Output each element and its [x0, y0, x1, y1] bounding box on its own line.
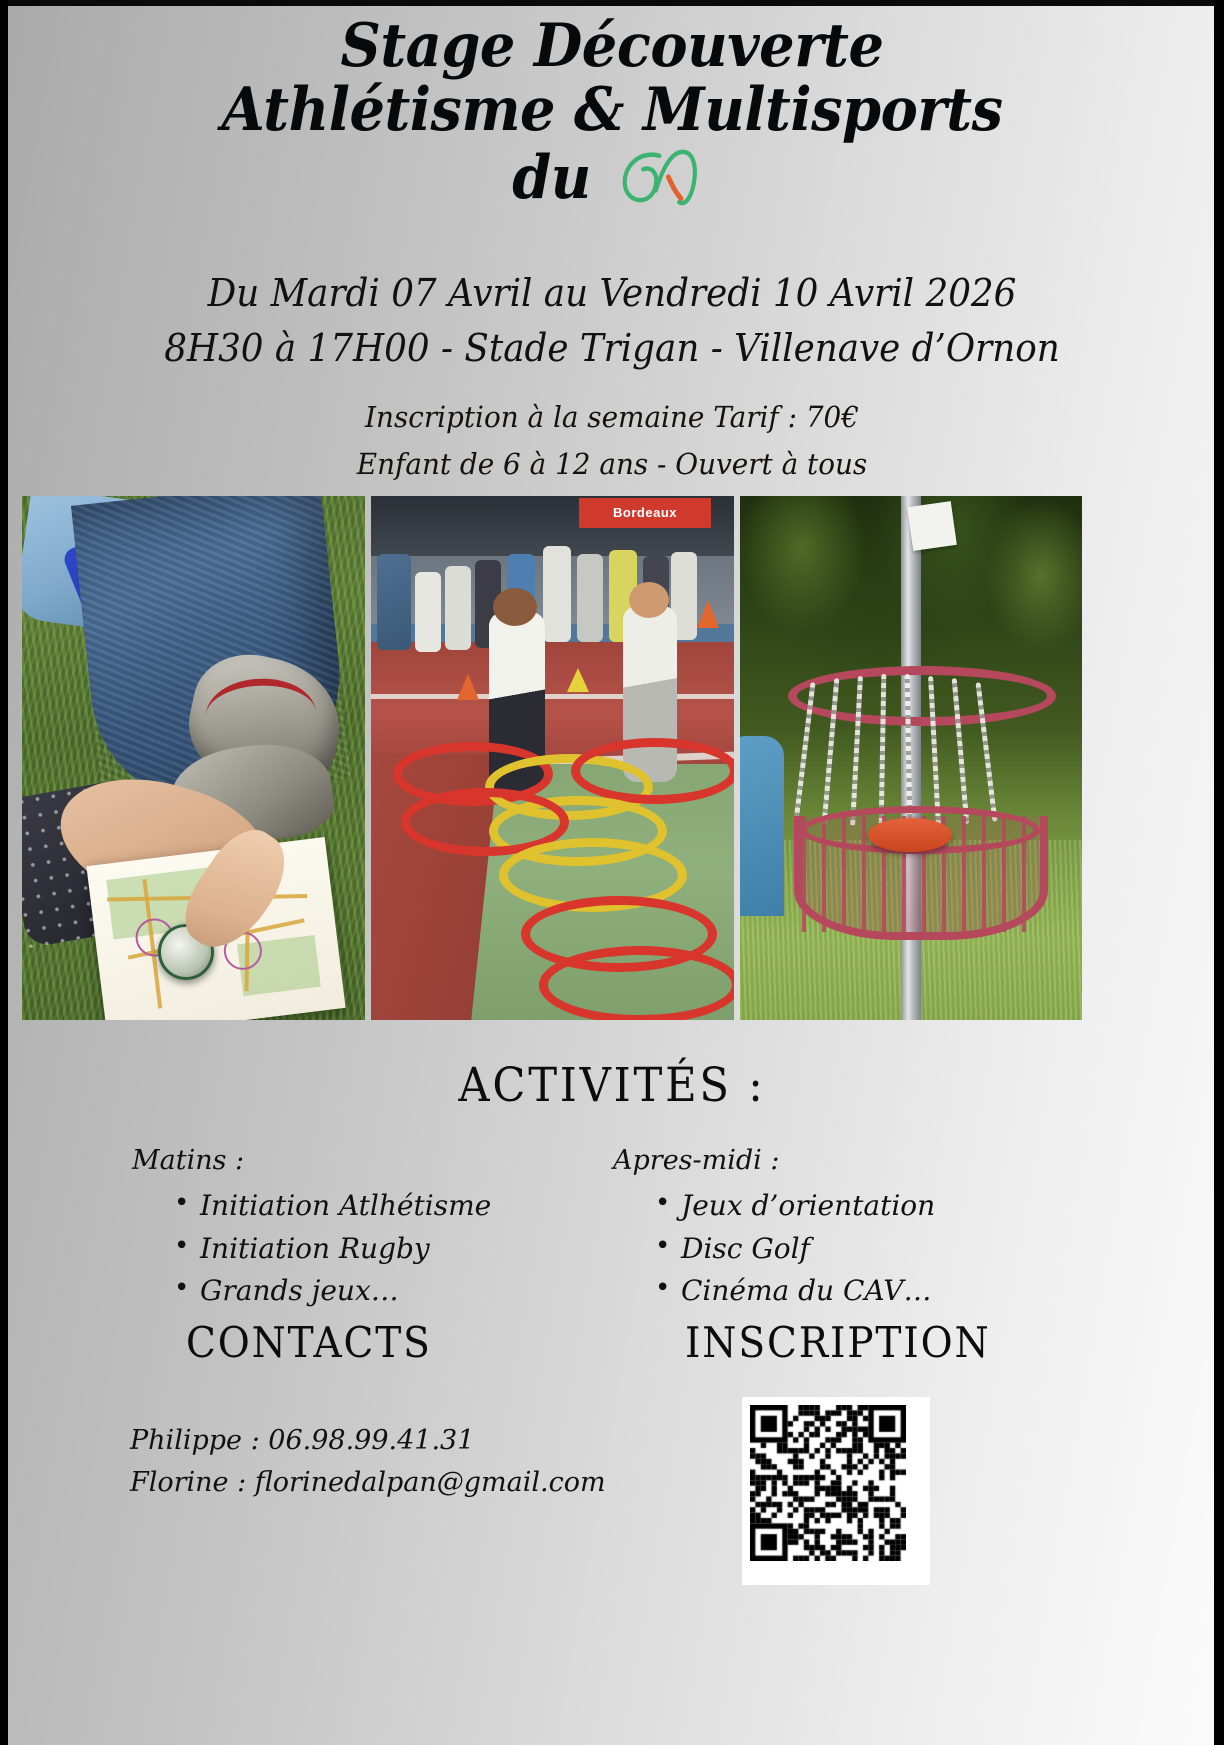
list-item: Cinéma du CAV…	[655, 1270, 1224, 1313]
training-cone	[567, 668, 589, 692]
runner-boy-head	[629, 582, 669, 618]
contacts-list: Philippe : 06.98.99.41.31 Florine : flor…	[130, 1420, 606, 1504]
cav-logo-icon	[604, 142, 712, 214]
disc	[868, 818, 952, 852]
poster-root: Stage Découverte Athlétisme & Multisport…	[0, 0, 1224, 1745]
person-child	[543, 546, 571, 642]
title-line-2: Athlétisme & Multisports	[43, 78, 1181, 142]
basket-top-rim	[788, 666, 1056, 726]
person-child	[445, 566, 471, 650]
border-right	[1214, 0, 1224, 1745]
photo-disc-golf-basket	[740, 496, 1082, 1020]
afternoon-label: Apres-midi :	[613, 1145, 1224, 1176]
event-info: Du Mardi 07 Avril au Vendredi 10 Avril 2…	[0, 266, 1224, 487]
hoop-red	[539, 946, 734, 1020]
activities-heading: ACTIVITÉS :	[49, 1058, 1175, 1113]
event-audience: Enfant de 6 à 12 ans - Ouvert à tous	[24, 441, 1199, 487]
venue-banner: Bordeaux	[579, 498, 711, 528]
contacts-heading: CONTACTS	[186, 1318, 432, 1367]
contact-email[interactable]: Florine : florinedalpan@gmail.com	[130, 1462, 606, 1504]
inscription-heading: INSCRIPTION	[685, 1318, 991, 1367]
page-title: Stage Découverte Athlétisme & Multisport…	[0, 14, 1224, 214]
training-cone	[457, 674, 479, 700]
contact-phone: Philippe : 06.98.99.41.31	[130, 1420, 606, 1462]
event-price: Inscription à la semaine Tarif : 70€	[24, 394, 1199, 440]
hoop-red	[571, 738, 734, 804]
inscription-qr-code[interactable]	[742, 1397, 930, 1585]
track-line-1	[371, 694, 734, 699]
list-item: Jeux d’orientation	[655, 1185, 1224, 1228]
border-left	[0, 0, 8, 1745]
border-top	[0, 0, 1224, 6]
child-in-background	[740, 736, 784, 916]
person-coach	[377, 554, 411, 650]
event-hours-place: 8H30 à 17H00 - Stade Trigan - Villenave …	[37, 321, 1188, 376]
training-cone	[697, 600, 719, 628]
list-item: Disc Golf	[655, 1228, 1224, 1271]
title-line-1: Stage Découverte	[43, 14, 1181, 78]
person-child	[577, 554, 603, 642]
afternoon-list: Jeux d’orientation Disc Golf Cinéma du C…	[613, 1185, 1224, 1313]
event-dates: Du Mardi 07 Avril au Vendredi 10 Avril 2…	[37, 266, 1188, 321]
photo-orienteering-map	[22, 496, 365, 1020]
title-line-3-prefix: du	[512, 146, 591, 210]
hole-flag	[907, 501, 957, 551]
photo-strip: Bordeaux	[22, 496, 1082, 1020]
activities-columns: Matins : Initiation Atlhétisme Initiatio…	[0, 1145, 1224, 1313]
photo-athletics-hoops: Bordeaux	[371, 496, 734, 1020]
activities-afternoon: Apres-midi : Jeux d’orientation Disc Gol…	[0, 1145, 1224, 1313]
person-child	[415, 572, 441, 652]
title-line-3: du	[43, 142, 1181, 214]
runner-girl-head	[493, 588, 537, 626]
